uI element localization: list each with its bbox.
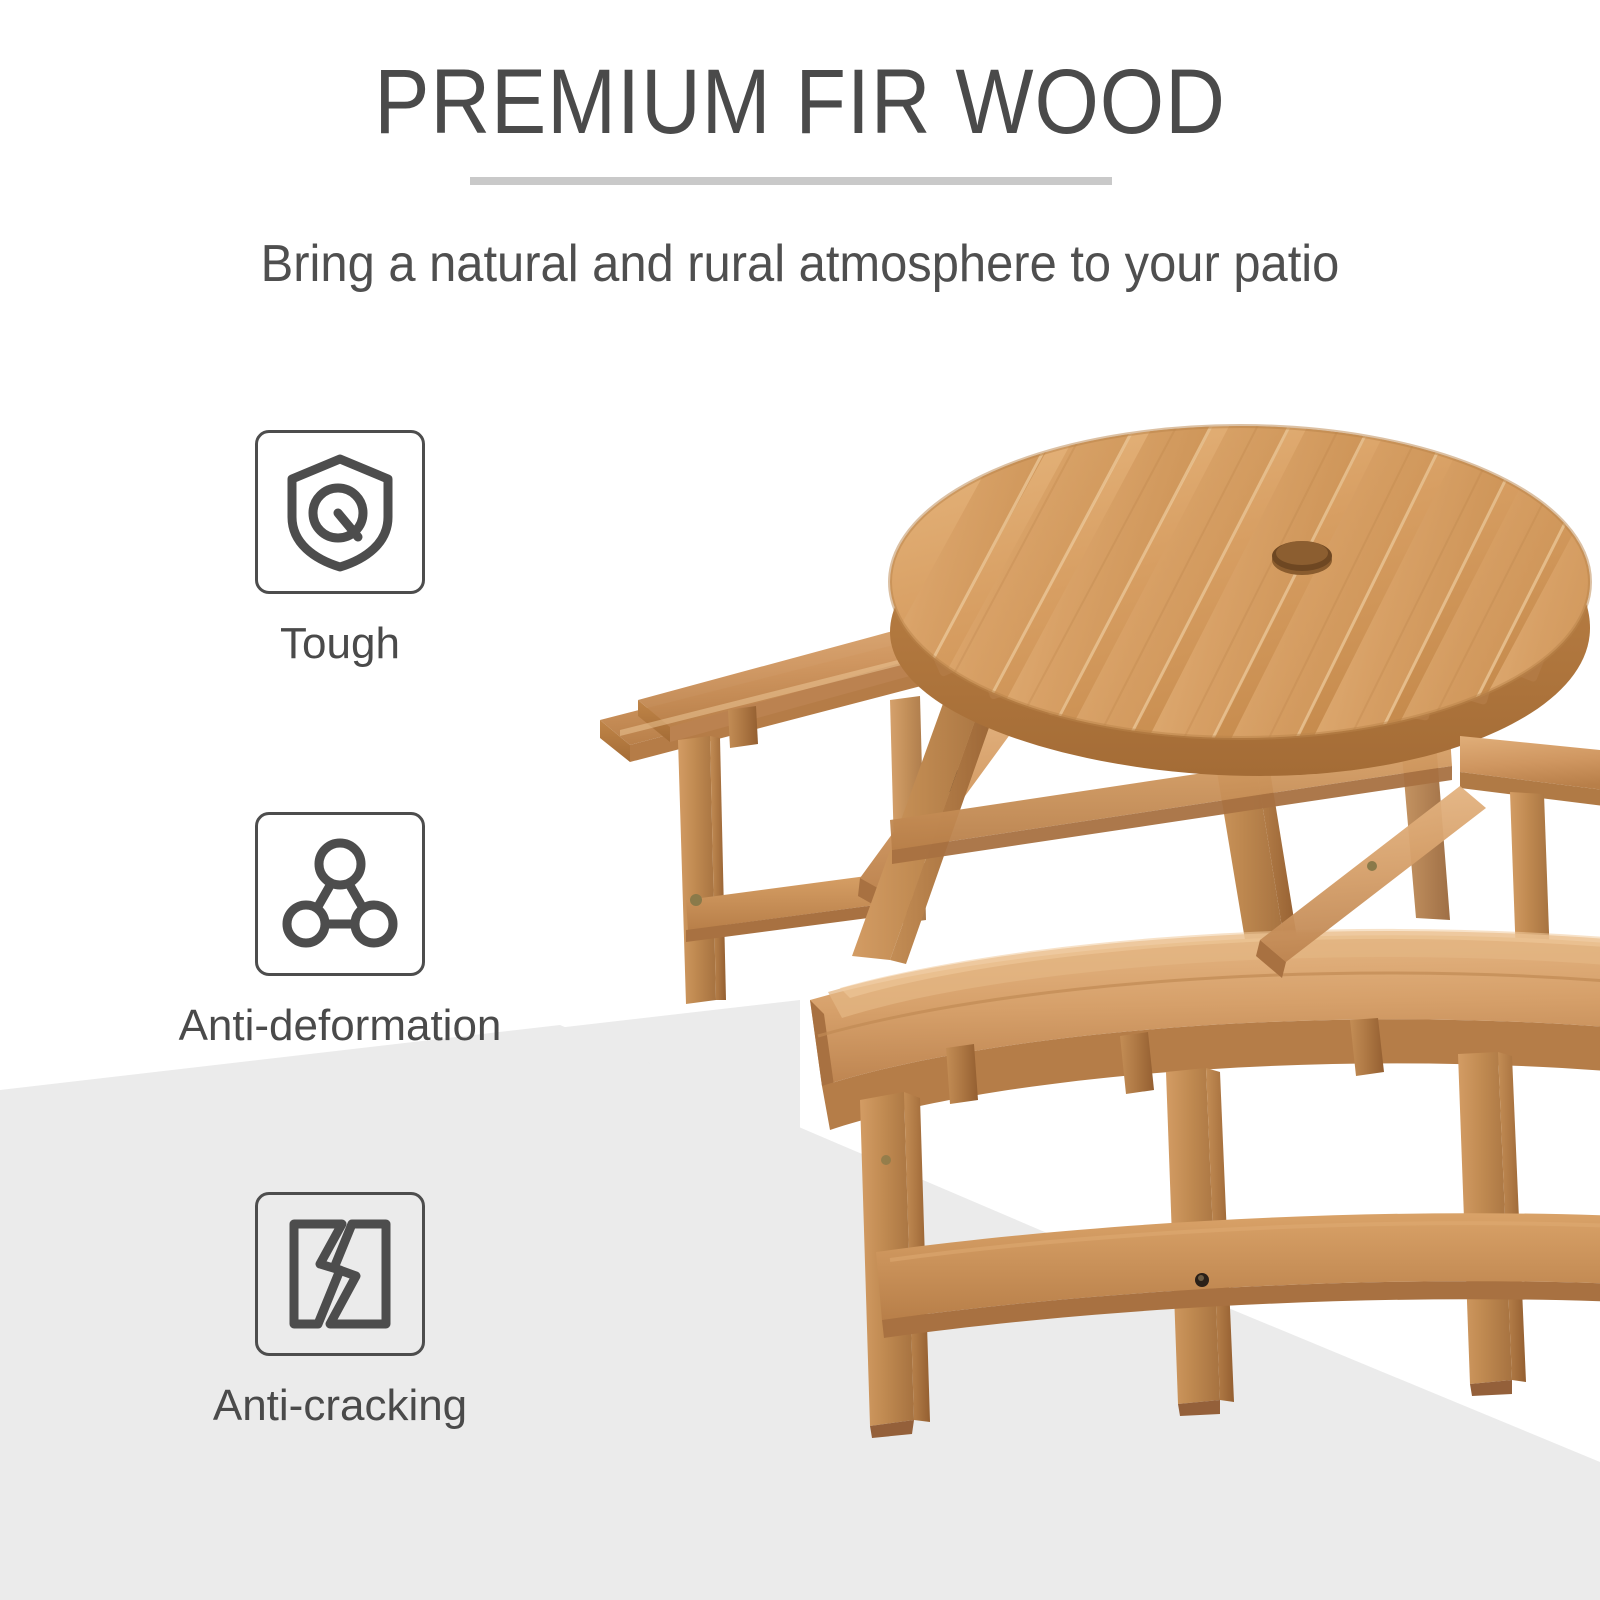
round-slatted-tabletop: [860, 400, 1600, 776]
product-feature-graphic: PREMIUM FIR WOOD Bring a natural and rur…: [0, 0, 1600, 1600]
product-photo: [560, 400, 1600, 1520]
shield-q-icon: [284, 451, 396, 573]
title-divider: [470, 177, 1112, 185]
umbrella-hole: [1272, 541, 1332, 575]
page-subtitle: Bring a natural and rural atmosphere to …: [48, 238, 1552, 290]
cracked-board-icon: [284, 1214, 396, 1334]
feature-icon-box: [255, 1192, 425, 1356]
page-title: PREMIUM FIR WOOD: [80, 56, 1520, 148]
feature-icon-box: [255, 812, 425, 976]
right-bench: [1460, 736, 1600, 960]
front-bench: [810, 929, 1600, 1438]
triangle-nodes-icon: [282, 838, 398, 950]
feature-icon-box: [255, 430, 425, 594]
picnic-table-illustration: [560, 400, 1600, 1520]
